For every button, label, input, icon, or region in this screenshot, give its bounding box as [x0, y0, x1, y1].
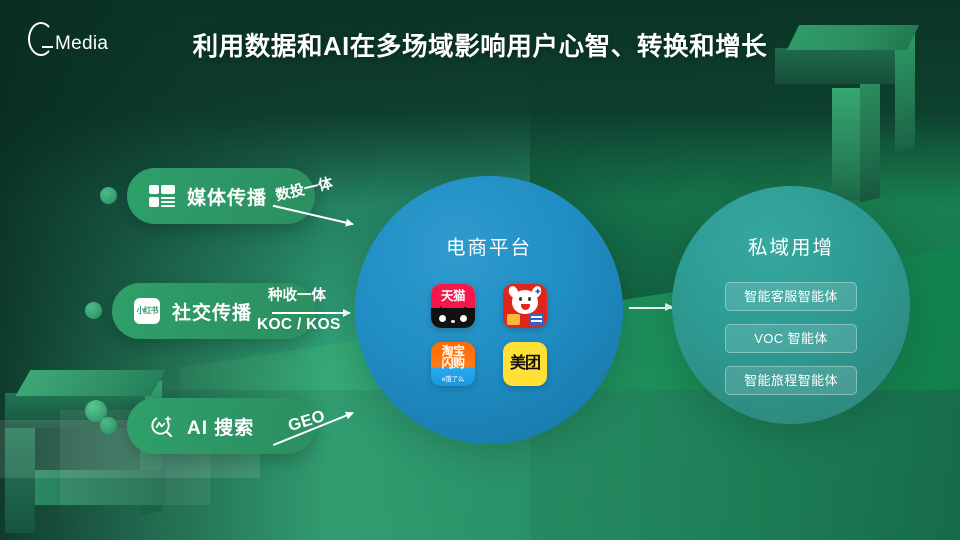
taobao-shangou-line2: 闪购 — [431, 357, 475, 369]
page-title-accent: AI — [323, 33, 350, 61]
jd-icon[interactable]: ✦ — [503, 284, 547, 328]
private-domain-circle[interactable]: 私域用增 智能客服智能体 VOC 智能体 智能旅程智能体 — [672, 186, 910, 424]
arrow-ecommerce-to-private-domain — [629, 307, 673, 309]
taobao-shangou-icon[interactable]: 淘宝 闪购 e饿了么 — [431, 342, 475, 386]
slide-canvas: Media 利用数据和AI在多场域影响用户心智、转换和增长 媒体传播 小红书 社… — [0, 0, 960, 540]
ecommerce-app-grid: 天猫 ✦ 淘宝 闪购 e饿了么 美团 — [431, 284, 547, 386]
ai-search-sparkle-icon — [149, 413, 175, 439]
taobao-shangou-line3: e饿了么 — [431, 377, 475, 384]
agent-badge-voc[interactable]: VOC 智能体 — [725, 324, 857, 353]
channel-label-media: 媒体传播 — [187, 183, 267, 210]
tmall-label: 天猫 — [441, 290, 465, 303]
agent-badge-journey[interactable]: 智能旅程智能体 — [725, 366, 857, 395]
ecommerce-title: 电商平台 — [446, 231, 532, 260]
channel-dot-2 — [85, 302, 102, 319]
annotation-social-cn: 种收一体 — [268, 284, 326, 305]
channel-dot-3 — [100, 417, 117, 434]
meituan-icon[interactable]: 美团 — [503, 342, 547, 386]
page-title-prefix: 利用数据和 — [193, 32, 324, 61]
channel-label-ai-search: AI 搜索 — [187, 413, 254, 440]
agent-badge-list: 智能客服智能体 VOC 智能体 智能旅程智能体 — [725, 282, 857, 395]
private-domain-title: 私域用增 — [748, 231, 834, 260]
ecommerce-circle[interactable]: 电商平台 天猫 ✦ 淘宝 闪购 e饿了么 美团 — [355, 176, 623, 444]
tmall-icon[interactable]: 天猫 — [431, 284, 475, 328]
media-layout-icon — [149, 183, 175, 209]
meituan-label: 美团 — [510, 356, 540, 372]
page-title-suffix: 在多场域影响用户心智、转换和增长 — [350, 32, 768, 61]
arrow-social-to-ecommerce — [272, 312, 350, 314]
channel-dot-1 — [100, 187, 117, 204]
channel-label-social: 社交传播 — [172, 298, 252, 325]
annotation-social-en: KOC / KOS — [257, 316, 341, 334]
page-title: 利用数据和AI在多场域影响用户心智、转换和增长 — [0, 26, 960, 63]
agent-badge-customer-service[interactable]: 智能客服智能体 — [725, 282, 857, 311]
xiaohongshu-icon: 小红书 — [134, 298, 160, 324]
channel-pill-ai-search[interactable]: AI 搜索 — [127, 398, 315, 454]
